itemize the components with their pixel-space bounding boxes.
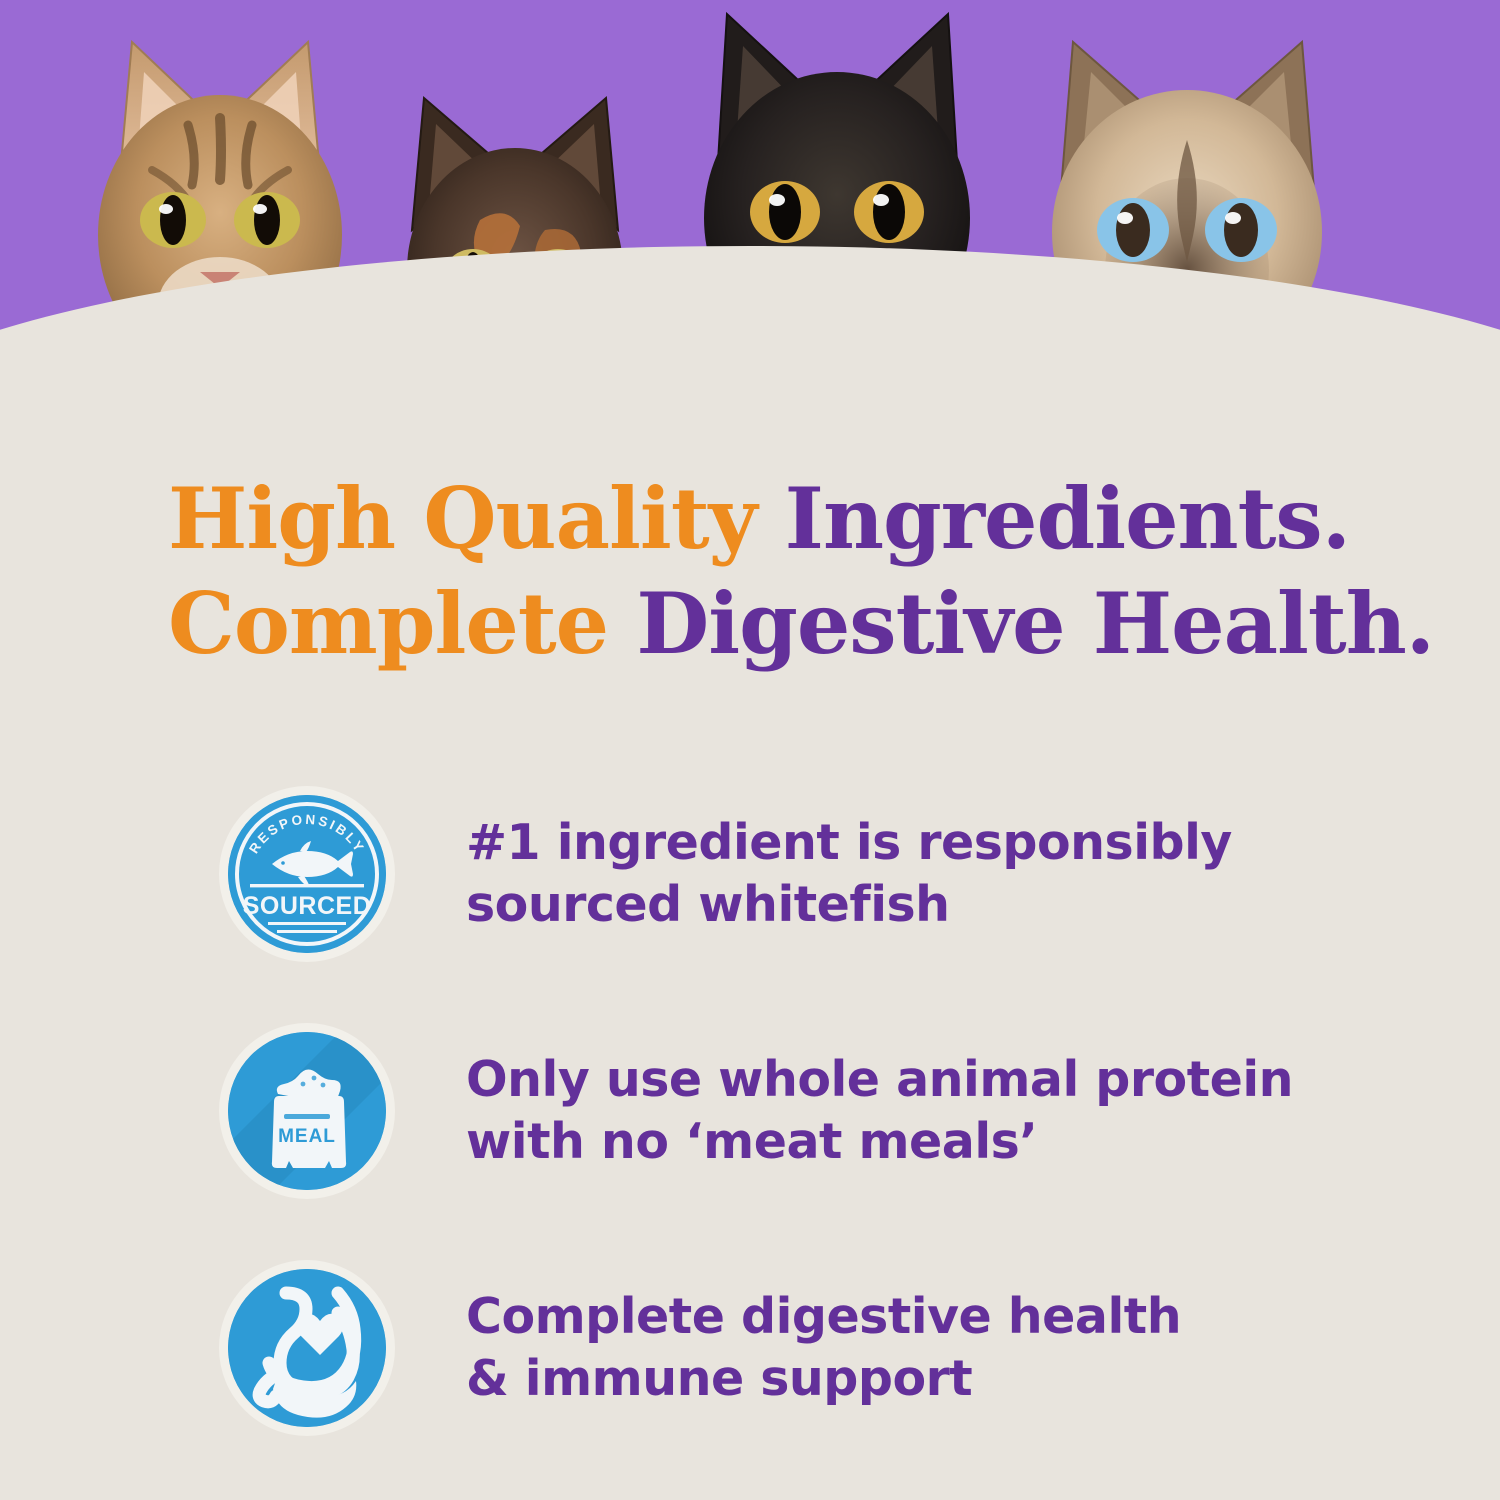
page-title: High Quality Ingredients. Complete Diges…	[0, 466, 1500, 676]
badge-word: SOURCED	[243, 892, 372, 920]
feature-text-no-meat-meals: Only use whole animal protein with no ‘m…	[466, 1049, 1293, 1173]
feature-text-responsibly-sourced: #1 ingredient is responsibly sourced whi…	[466, 812, 1232, 936]
feature-line-1: #1 ingredient is responsibly	[466, 812, 1232, 874]
headline-line-2-purple: Digestive Health.	[636, 574, 1434, 673]
headline-line-1-purple: Ingredients.	[785, 469, 1350, 568]
feature-row-no-meat-meals: MEAL Only use whole animal protein with …	[0, 992, 1500, 1229]
feature-text-digestive-health: Complete digestive health & immune suppo…	[466, 1286, 1181, 1410]
feature-row-digestive-health: Complete digestive health & immune suppo…	[0, 1229, 1500, 1466]
headline-line-2-orange: Complete	[168, 574, 636, 673]
product-feature-infographic: High Quality Ingredients. Complete Diges…	[0, 0, 1500, 1500]
headline-line-1: High Quality Ingredients.	[168, 466, 1500, 571]
cat-photo-banner	[0, 0, 1500, 420]
no-meat-meal-sack-icon: MEAL	[228, 1032, 386, 1190]
feature-line-2: & immune support	[466, 1348, 1181, 1410]
stomach-heart-digestive-health-icon	[228, 1269, 386, 1427]
feature-line-2: with no ‘meat meals’	[466, 1111, 1293, 1173]
feature-line-2: sourced whitefish	[466, 874, 1232, 936]
sack-label: MEAL	[278, 1126, 336, 1147]
feature-line-1: Complete digestive health	[466, 1286, 1181, 1348]
feature-list: RESPONSIBLY SOURCED	[0, 755, 1500, 1466]
feature-row-responsibly-sourced: RESPONSIBLY SOURCED	[0, 755, 1500, 992]
headline-line-2: Complete Digestive Health.	[168, 571, 1500, 676]
headline-line-1-orange: High Quality	[168, 469, 785, 568]
responsibly-sourced-fish-badge-icon: RESPONSIBLY SOURCED	[228, 795, 386, 953]
feature-line-1: Only use whole animal protein	[466, 1049, 1293, 1111]
